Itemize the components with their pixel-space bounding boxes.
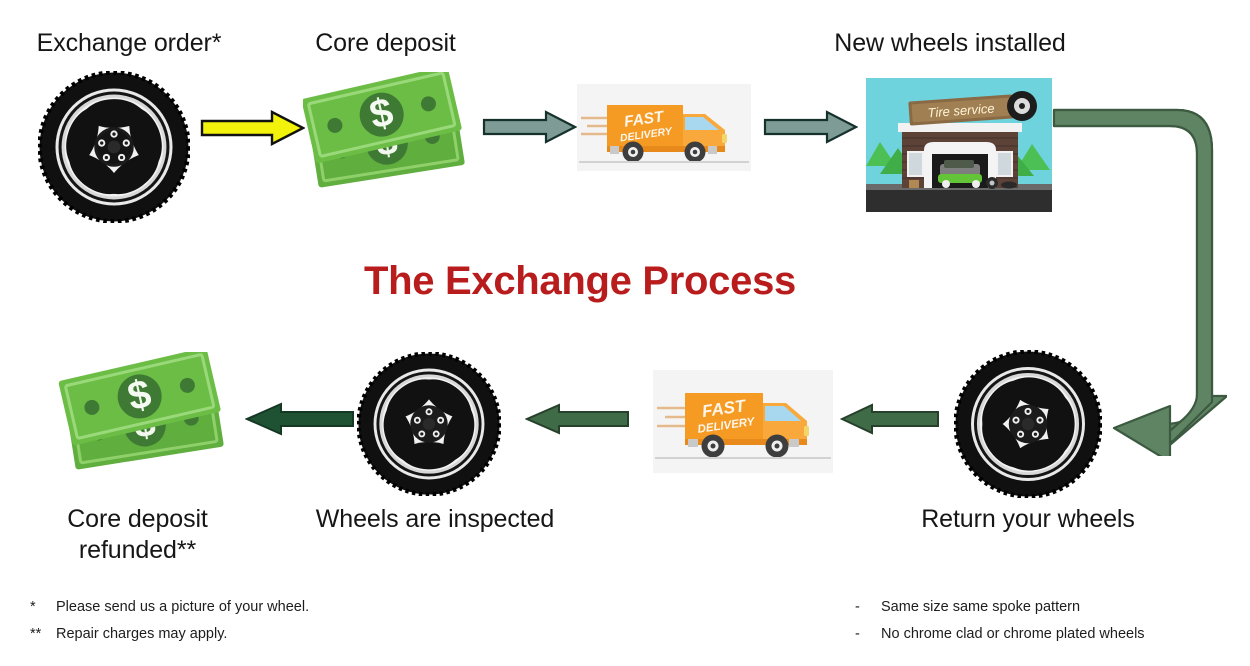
wheel-icon-return-your-wheels: [954, 350, 1102, 498]
money-icon-core-deposit: $ $: [303, 72, 478, 207]
footnotes-right: - Same size same spoke pattern - No chro…: [855, 594, 1145, 648]
arrow-truck-to-inspect: [525, 403, 630, 435]
footnote-text: Same size same spoke pattern: [881, 594, 1080, 621]
arrow-return-to-truck: [840, 403, 940, 435]
footnote-marker: **: [30, 621, 56, 648]
step-label-return-your-wheels: Return your wheels: [880, 504, 1176, 535]
footnote-row: - Same size same spoke pattern: [855, 594, 1145, 621]
arrow-deposit-to-truck: [482, 110, 577, 144]
footnote-text: No chrome clad or chrome plated wheels: [881, 621, 1145, 648]
footnote-row: * Please send us a picture of your wheel…: [30, 594, 309, 621]
step-label-core-deposit-refunded: Core deposit refunded**: [15, 504, 260, 567]
arrow-inspect-to-refund: [245, 402, 355, 436]
step-label-wheels-are-inspected: Wheels are inspected: [290, 504, 580, 535]
wheel-icon-wheels-are-inspected: [357, 352, 501, 496]
footnote-marker: *: [30, 594, 56, 621]
arrow-order-to-deposit: [200, 109, 305, 147]
footnote-row: ** Repair charges may apply.: [30, 621, 309, 648]
footnote-marker: -: [855, 621, 881, 648]
exchange-process-diagram: Exchange order* Core deposit New wheels …: [0, 0, 1250, 666]
money-icon-core-deposit-refunded: $ $: [58, 352, 236, 488]
footnote-marker: -: [855, 594, 881, 621]
footnote-text: Repair charges may apply.: [56, 621, 227, 648]
step-label-core-deposit-refunded-line1: Core deposit: [15, 504, 260, 535]
tire-service-shop-icon: Tire service: [866, 78, 1052, 212]
step-label-core-deposit: Core deposit: [278, 28, 493, 59]
footnote-text: Please send us a picture of your wheel.: [56, 594, 309, 621]
delivery-truck-icon-outbound: FAST DELIVERY: [577, 84, 751, 171]
delivery-truck-icon-inbound: FAST DELIVERY: [653, 370, 833, 473]
footnote-row: - No chrome clad or chrome plated wheels: [855, 621, 1145, 648]
step-label-exchange-order: Exchange order*: [0, 28, 258, 59]
arrow-truck-to-shop: [763, 110, 858, 144]
step-label-core-deposit-refunded-line2: refunded**: [15, 535, 260, 566]
step-label-new-wheels-installed: New wheels installed: [790, 28, 1110, 59]
footnotes-left: * Please send us a picture of your wheel…: [30, 594, 309, 648]
page-title: The Exchange Process: [0, 259, 1160, 304]
wheel-icon-exchange-order: [38, 71, 190, 223]
